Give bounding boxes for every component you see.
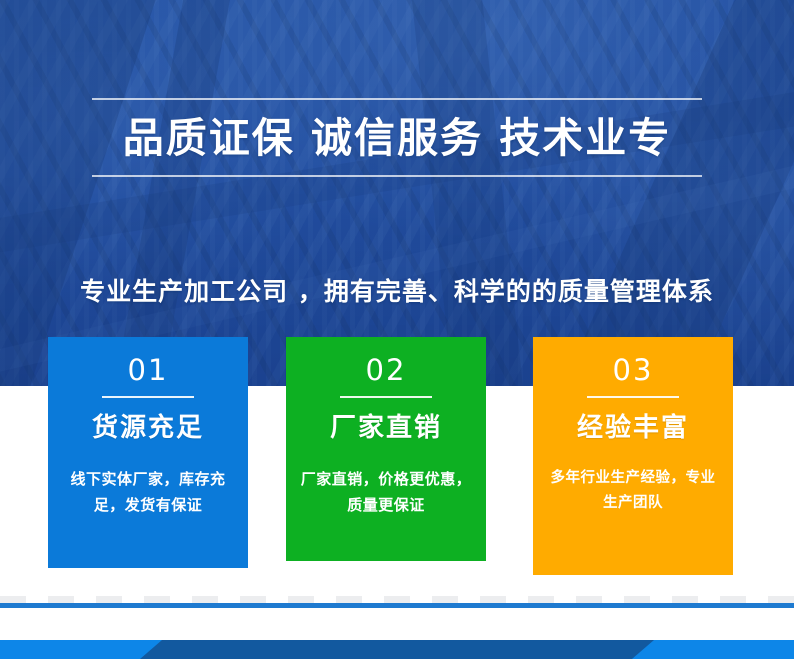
card-title: 货源充足 [48, 415, 248, 441]
feature-card-02[interactable]: 02 厂家直销 厂家直销，价格更优惠，质量更保证 [286, 337, 486, 561]
bottom-banner-strip [0, 640, 794, 659]
promo-banner-page: 品质证保 诚信服务 技术业专 专业生产加工公司 ，拥有完善、科学的的质量管理体系… [0, 0, 794, 659]
feature-cards: 01 货源充足 线下实体厂家，库存充足，发货有保证 02 厂家直销 厂家直销，价… [0, 0, 794, 659]
card-number: 01 [48, 337, 248, 385]
card-number: 02 [286, 337, 486, 385]
feature-card-03[interactable]: 03 经验丰富 多年行业生产经验，专业生产团队 [533, 337, 733, 575]
card-divider [102, 396, 194, 398]
card-description: 线下实体厂家，库存充足，发货有保证 [48, 466, 248, 519]
card-description: 厂家直销，价格更优惠，质量更保证 [286, 466, 486, 519]
section-divider [0, 603, 794, 608]
feature-card-01[interactable]: 01 货源充足 线下实体厂家，库存充足，发货有保证 [48, 337, 248, 568]
card-title: 经验丰富 [533, 415, 733, 441]
card-description: 多年行业生产经验，专业生产团队 [533, 466, 733, 517]
card-title: 厂家直销 [286, 415, 486, 441]
card-divider [340, 396, 432, 398]
card-divider [587, 396, 679, 398]
bottom-banner-shape [140, 640, 654, 659]
card-number: 03 [533, 337, 733, 385]
